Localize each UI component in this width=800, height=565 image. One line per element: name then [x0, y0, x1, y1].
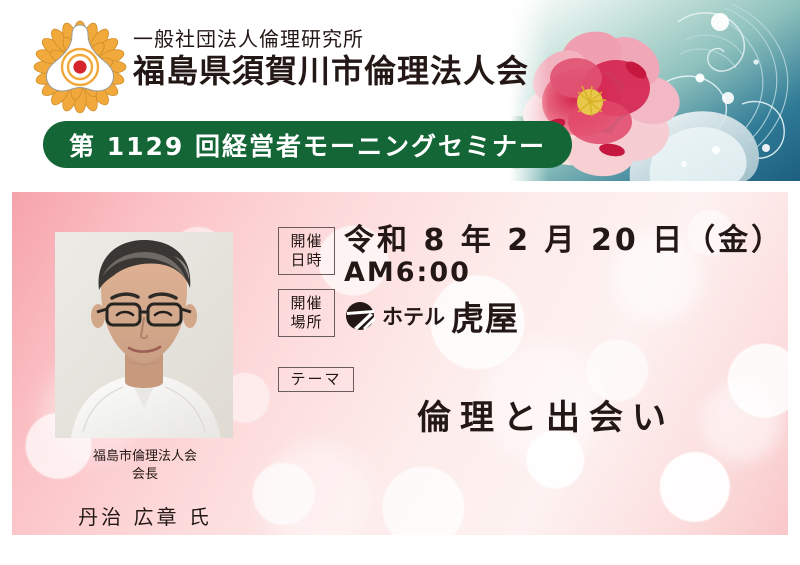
datetime-label-line2: 日時 — [290, 251, 322, 270]
speaker-title: 会長 — [12, 466, 278, 484]
event-date: 令和 8 年 2 月 20 日（金） — [344, 223, 784, 258]
seminar-poster: 一般社団法人倫理研究所 福島県須賀川市倫理法人会 第 1129 回経営者モーニン… — [0, 0, 800, 565]
bokeh-decoration — [702, 382, 782, 462]
seminar-number-banner: 第 1129 回経営者モーニングセミナー — [43, 121, 572, 168]
venue-block: ホテル 虎屋 — [344, 292, 519, 340]
place-label-line1: 開催 — [290, 294, 322, 313]
theme-label-box: テーマ — [278, 367, 354, 392]
place-label-line2: 場所 — [290, 313, 322, 332]
datetime-label-box: 開催 日時 — [278, 227, 335, 275]
speaker-affiliation-block: 福島市倫理法人会 会長 — [12, 448, 278, 484]
speaker-portrait-photo — [55, 232, 233, 438]
venue-kana: ホテル — [382, 301, 445, 331]
speaker-affiliation: 福島市倫理法人会 — [12, 448, 278, 466]
datetime-label-line1: 開催 — [290, 232, 322, 251]
toraya-circle-logo-icon — [344, 298, 380, 334]
seminar-number-label: 第 1129 回経営者モーニングセミナー — [69, 127, 546, 163]
organization-titles: 一般社団法人倫理研究所 福島県須賀川市倫理法人会 — [133, 27, 529, 91]
bokeh-decoration — [262, 442, 372, 535]
speaker-name: 丹治 広章 氏 — [12, 504, 278, 530]
organization-name: 福島県須賀川市倫理法人会 — [133, 51, 529, 91]
seminar-details-panel: 福島市倫理法人会 会長 丹治 広章 氏 開催 日時 令和 8 年 2 月 20 … — [12, 192, 788, 535]
event-time: AM6:00 — [344, 257, 471, 289]
place-label-box: 開催 場所 — [278, 289, 335, 337]
venue-name: 虎屋 — [451, 292, 519, 340]
theme-label: テーマ — [290, 370, 341, 389]
organization-subtitle: 一般社団法人倫理研究所 — [133, 27, 529, 51]
chrysanthemum-rinri-emblem-icon — [32, 17, 128, 113]
poster-header: 一般社団法人倫理研究所 福島県須賀川市倫理法人会 第 1129 回経営者モーニン… — [0, 0, 800, 181]
theme-title: 倫理と出会い — [417, 397, 675, 439]
